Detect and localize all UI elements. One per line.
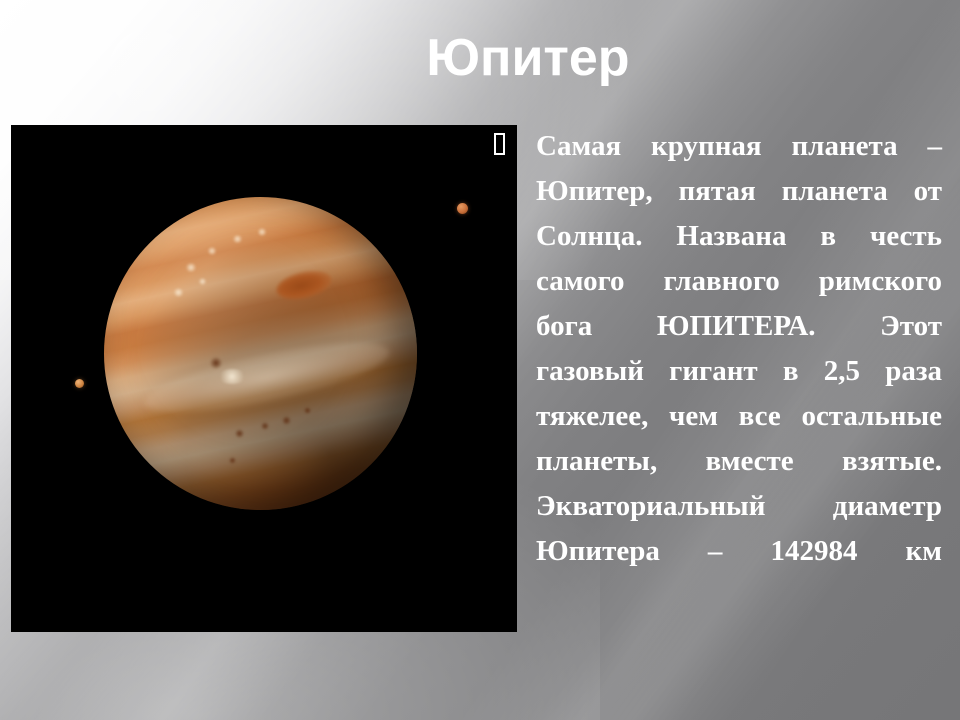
moon-upper-right	[457, 203, 468, 214]
surface-dark-spot	[229, 457, 236, 464]
surface-light-spot	[232, 235, 243, 243]
great-red-spot	[274, 266, 334, 304]
body-text-content: Самая крупная планета – Юпитер, пятая пл…	[536, 124, 942, 619]
body-paragraph: Самая крупная планета – Юпитер, пятая пл…	[536, 124, 942, 619]
surface-dark-spot	[210, 357, 222, 369]
surface-light-spot	[185, 263, 197, 272]
surface-light-spot	[173, 288, 184, 297]
planet-jupiter-disc	[104, 197, 417, 510]
surface-dark-spot	[235, 429, 244, 438]
slide-title: Юпитер	[0, 28, 960, 88]
surface-dark-spot	[304, 407, 311, 414]
surface-light-spot	[217, 369, 247, 384]
surface-light-spot	[257, 228, 267, 236]
surface-light-spot	[198, 278, 207, 285]
jupiter-image	[11, 125, 517, 632]
equatorial-bright-zone	[139, 328, 394, 426]
missing-glyph-placeholder-icon	[494, 133, 505, 155]
moon-left	[75, 379, 84, 388]
surface-light-spot	[207, 247, 217, 255]
surface-dark-spot	[261, 422, 269, 430]
surface-dark-spot	[282, 416, 291, 425]
slide-canvas: Юпитер Самая крупная планета – Юпитер, п…	[0, 0, 960, 720]
